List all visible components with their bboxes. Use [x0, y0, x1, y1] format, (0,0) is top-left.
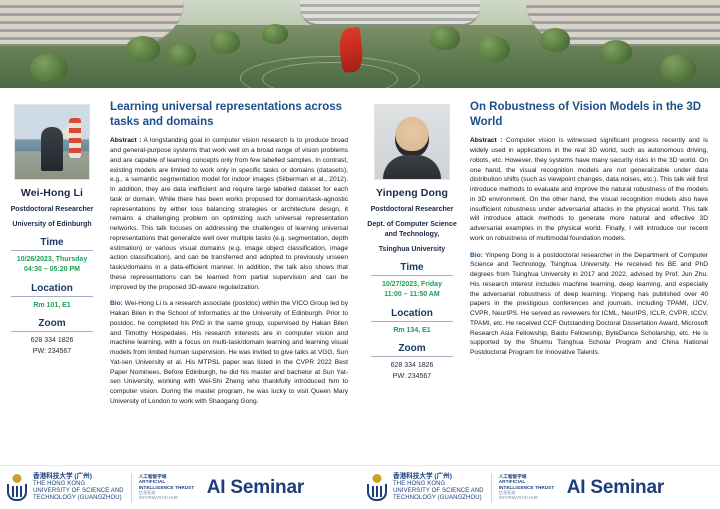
banner-tree	[30, 54, 68, 82]
banner-tree	[600, 40, 632, 64]
university-name-cn: 香港科技大学 (广州)	[33, 473, 124, 481]
time-heading: Time	[11, 237, 93, 251]
seminar-title: AI Seminar	[567, 477, 664, 499]
speaker-photo	[14, 104, 90, 180]
time-section: Time 10/26/2023, Thursday 04:30 – 05:20 …	[5, 237, 99, 276]
abstract-paragraph: Abstract : Computer vision is witnessed …	[470, 136, 708, 243]
banner-red-sculpture	[338, 27, 364, 73]
footer-divider	[491, 474, 492, 502]
university-name-en-2: UNIVERSITY OF SCIENCE AND	[393, 488, 484, 495]
talk-title: On Robustness of Vision Models in the 3D…	[470, 100, 708, 129]
abstract-label: Abstract :	[110, 137, 141, 144]
speaker-column-left: Wei-Hong Li Postdoctoral Researcher Univ…	[0, 94, 104, 465]
speaker-column-right: Yinpeng Dong Postdoctoral Researcher Dep…	[360, 94, 464, 465]
crest-bar	[12, 486, 14, 497]
banner-tree	[210, 30, 240, 54]
zoom-section: Zoom 628 334 1826 PW: 234567	[5, 318, 99, 357]
zoom-section: Zoom 628 334 1826 PW: 234567	[365, 343, 459, 382]
banner-building-center	[300, 0, 480, 26]
bio-paragraph: Bio: Yinpeng Dong is a postdoctoral rese…	[470, 251, 708, 358]
university-name-en-1: THE HONG KONG	[33, 481, 124, 488]
content-column-left: Learning universal representations acros…	[104, 94, 360, 465]
crest-bar	[372, 486, 374, 497]
banner-tree	[660, 54, 696, 82]
seminar-title: AI Seminar	[207, 477, 304, 499]
university-name-en-3: TECHNOLOGY (GUANGZHOU)	[33, 495, 124, 502]
speaker-affiliation: Dept. of Computer Science and Technology…	[365, 220, 459, 239]
footer-divider	[131, 474, 132, 502]
talk-title: Learning universal representations acros…	[110, 100, 348, 129]
footer-right: 香港科技大学 (广州) THE HONG KONG UNIVERSITY OF …	[360, 466, 720, 509]
location-value: Rm 134, E1	[365, 326, 459, 337]
bio-label: Bio:	[110, 300, 123, 307]
crest-bar	[16, 486, 18, 497]
banner-tree	[126, 36, 160, 62]
speaker-affiliation: University of Edinburgh	[5, 220, 99, 229]
zoom-meeting-id: 628 334 1826	[5, 336, 99, 347]
university-name-en-2: UNIVERSITY OF SCIENCE AND	[33, 488, 124, 495]
speaker-role: Postdoctoral Researcher	[365, 205, 459, 214]
location-value: Rm 101, E1	[5, 301, 99, 312]
footer-left: 香港科技大学 (广州) THE HONG KONG UNIVERSITY OF …	[0, 466, 360, 509]
speaker-name: Yinpeng Dong	[365, 187, 459, 199]
hkust-crest-icon	[366, 474, 388, 502]
zoom-meeting-id: 628 334 1826	[365, 361, 459, 372]
content-column-right: On Robustness of Vision Models in the 3D…	[464, 94, 720, 465]
campus-banner-image	[0, 0, 720, 88]
university-name-en-1: THE HONG KONG	[393, 481, 484, 488]
banner-tree	[168, 44, 196, 66]
banner-tree	[476, 36, 510, 62]
hkust-crest-icon	[6, 474, 28, 502]
hub-name-en: INFORMATION HUB	[139, 496, 201, 501]
university-name: 香港科技大学 (广州) THE HONG KONG UNIVERSITY OF …	[33, 473, 124, 503]
hub-name-en: INFORMATION HUB	[499, 496, 561, 501]
banner-plaza-step	[262, 62, 398, 88]
zoom-password: PW: 234567	[5, 347, 99, 358]
location-section: Location Rm 101, E1	[5, 283, 99, 312]
time-value-line1: 10/26/2023, Thursday	[5, 255, 99, 266]
bio-text: Yinpeng Dong is a postdoctoral researche…	[470, 252, 708, 357]
university-name-en-3: TECHNOLOGY (GUANGZHOU)	[393, 495, 484, 502]
banner-tree	[540, 28, 570, 52]
abstract-text: Computer vision is witnessed significant…	[470, 137, 708, 242]
hkust-logo: 香港科技大学 (广州) THE HONG KONG UNIVERSITY OF …	[366, 473, 484, 503]
speaker-affiliation-secondary: Tsinghua University	[365, 245, 459, 254]
poster-row: Wei-Hong Li Postdoctoral Researcher Univ…	[0, 88, 720, 465]
banner-tree	[430, 26, 460, 50]
ai-thrust-logo: 人工智能学域 ARTIFICIAL INTELLIGENCE THRUST 信息…	[139, 474, 201, 501]
abstract-paragraph: Abstract : A longstanding goal in comput…	[110, 136, 348, 292]
zoom-heading: Zoom	[11, 318, 93, 332]
speaker-name: Wei-Hong Li	[5, 187, 99, 199]
time-value-line2: 04:30 – 05:20 PM	[5, 265, 99, 276]
bio-paragraph: Bio: Wei-Hong Li is a research associate…	[110, 299, 348, 406]
time-value-line2: 11:00 – 11:50 AM	[365, 290, 459, 301]
seminar-poster-page: Wei-Hong Li Postdoctoral Researcher Univ…	[0, 0, 720, 509]
university-name-cn: 香港科技大学 (广州)	[393, 473, 484, 481]
footer: 香港科技大学 (广州) THE HONG KONG UNIVERSITY OF …	[0, 465, 720, 509]
time-heading: Time	[371, 262, 453, 276]
location-heading: Location	[11, 283, 93, 297]
ai-thrust-logo: 人工智能学域 ARTIFICIAL INTELLIGENCE THRUST 信息…	[499, 474, 561, 501]
poster-left: Wei-Hong Li Postdoctoral Researcher Univ…	[0, 88, 360, 465]
bio-text: Wei-Hong Li is a research associate (pos…	[110, 300, 348, 405]
banner-tree	[262, 24, 288, 44]
location-heading: Location	[371, 308, 453, 322]
crest-bar	[376, 486, 378, 497]
university-name: 香港科技大学 (广州) THE HONG KONG UNIVERSITY OF …	[393, 473, 484, 503]
abstract-label: Abstract :	[470, 137, 502, 144]
zoom-heading: Zoom	[371, 343, 453, 357]
crest-dot	[13, 474, 22, 483]
abstract-text: A longstanding goal in computer vision r…	[110, 137, 348, 290]
banner-building-left	[0, 0, 184, 46]
time-value-line1: 10/27/2023, Friday	[365, 280, 459, 291]
location-section: Location Rm 134, E1	[365, 308, 459, 337]
speaker-role: Postdoctoral Researcher	[5, 205, 99, 214]
hkust-logo: 香港科技大学 (广州) THE HONG KONG UNIVERSITY OF …	[6, 473, 124, 503]
speaker-photo	[374, 104, 450, 180]
poster-right: Yinpeng Dong Postdoctoral Researcher Dep…	[360, 88, 720, 465]
crest-bar	[380, 486, 382, 497]
zoom-password: PW: 234567	[365, 372, 459, 383]
time-section: Time 10/27/2023, Friday 11:00 – 11:50 AM	[365, 262, 459, 301]
bio-label: Bio:	[470, 252, 483, 259]
crest-bar	[20, 486, 22, 497]
crest-dot	[373, 474, 382, 483]
